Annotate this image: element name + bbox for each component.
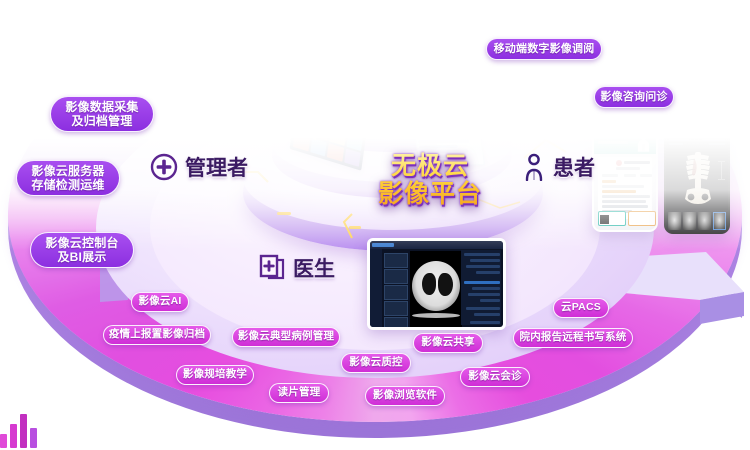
role-admin[interactable]: 管理者 xyxy=(150,152,248,182)
pill-line: 影像咨询问诊 xyxy=(600,91,667,103)
pill-line: 院内报告远程书写系统 xyxy=(520,332,627,344)
role-admin-label: 管理者 xyxy=(185,152,248,182)
pill-case-mgmt[interactable]: 影像云典型病例管理 xyxy=(232,327,340,347)
pill-line: 存储检测运维 xyxy=(31,178,104,192)
title-line-2: 影像平台 xyxy=(330,180,530,208)
floating-panel-ultrasound xyxy=(351,43,398,81)
pill-cloud-consult[interactable]: 影像云会诊 xyxy=(460,367,530,387)
circle-plus-icon xyxy=(150,153,178,181)
panel-stalk-endoscope xyxy=(337,52,338,110)
title-line-1: 无极云 xyxy=(330,152,530,180)
pill-line: 疫情上报置影像归档 xyxy=(109,329,205,341)
floating-panel-endoscope xyxy=(317,17,357,55)
dashboard-screen xyxy=(155,48,273,122)
pill-line: 云PACS xyxy=(561,302,601,314)
pill-line: 移动端数字影像调阅 xyxy=(494,43,595,55)
pill-line: 影像规培教学 xyxy=(183,369,247,381)
pill-console-bi[interactable]: 影像云控制台 及BI展示 xyxy=(30,232,134,268)
device-bi-dashboard[interactable] xyxy=(152,45,276,125)
pill-mobile-view[interactable]: 移动端数字影像调阅 xyxy=(486,38,602,60)
pill-line: 影像浏览软件 xyxy=(373,390,437,402)
infographic-canvas: 管理者 患者 医生 无极云 影像平台 影像数据采集 及归档管理 影像云服务器 xyxy=(0,0,750,450)
pill-remote-report[interactable]: 院内报告远程书写系统 xyxy=(513,328,633,348)
pill-viewer-software[interactable]: 影像浏览软件 xyxy=(365,386,445,406)
pill-film-reading[interactable]: 读片管理 xyxy=(269,383,329,403)
cylinder-band-3 xyxy=(341,92,435,100)
pill-epidemic-report[interactable]: 疫情上报置影像归档 xyxy=(103,325,211,345)
pill-quality-control[interactable]: 影像云质控 xyxy=(341,353,411,373)
ct-viewer-screen xyxy=(370,241,503,327)
pill-line: 影像数据采集 xyxy=(65,100,138,114)
device-phone-3d-image[interactable] xyxy=(664,126,730,234)
pill-cloud-pacs[interactable]: 云PACS xyxy=(553,298,609,318)
pill-line: 影像云典型病例管理 xyxy=(238,331,334,343)
pill-cloud-share[interactable]: 影像云共享 xyxy=(413,333,483,353)
device-phone-report[interactable] xyxy=(592,128,658,232)
pill-training[interactable]: 影像规培教学 xyxy=(176,365,254,385)
document-plus-icon xyxy=(258,253,286,283)
pill-line: 影像云AI xyxy=(139,296,182,308)
pill-line: 影像云共享 xyxy=(421,337,475,349)
pill-line: 影像云控制台 xyxy=(45,236,118,250)
panel-stalk-ultrasound xyxy=(375,78,376,114)
pill-line: 及BI展示 xyxy=(45,250,118,264)
page-title: 无极云 影像平台 xyxy=(330,152,530,208)
pill-cloud-server[interactable]: 影像云服务器 存储检测运维 xyxy=(16,160,120,196)
device-ct-viewer[interactable] xyxy=(367,238,506,330)
role-patient[interactable]: 患者 xyxy=(522,152,595,182)
pill-line: 影像云服务器 xyxy=(31,164,104,178)
phone-report-screen xyxy=(594,130,656,230)
floating-panel-bar-chart xyxy=(0,0,46,44)
pill-line: 及归档管理 xyxy=(65,114,138,128)
pill-cloud-ai[interactable]: 影像云AI xyxy=(131,292,189,312)
pill-line: 读片管理 xyxy=(278,387,321,399)
phone-3d-screen xyxy=(666,128,728,232)
role-patient-label: 患者 xyxy=(553,152,595,182)
pill-line: 影像云会诊 xyxy=(468,371,522,383)
role-doctor[interactable]: 医生 xyxy=(258,253,335,283)
cylinder-band-2 xyxy=(338,82,438,91)
pill-consultation[interactable]: 影像咨询问诊 xyxy=(594,86,674,108)
pill-line: 影像云质控 xyxy=(349,357,403,369)
skeleton-render xyxy=(678,150,718,206)
role-doctor-label: 医生 xyxy=(293,253,335,283)
pill-data-capture[interactable]: 影像数据采集 及归档管理 xyxy=(50,96,154,132)
panel-stalk-ct xyxy=(438,70,439,114)
